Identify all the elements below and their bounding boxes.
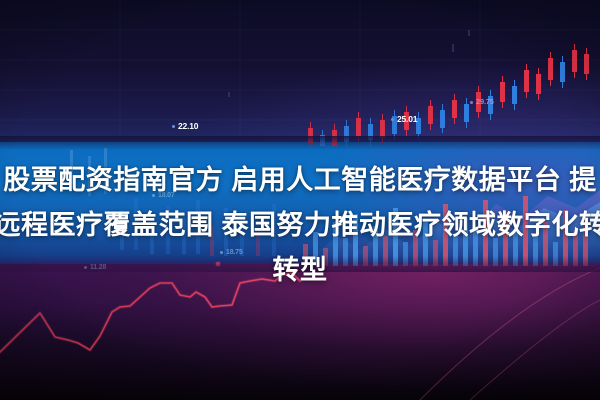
stock-news-banner: 22.10 25.01 29.75 18.07 18.75 11.28 股票配资… (0, 0, 600, 400)
vignette-overlay (0, 0, 600, 400)
